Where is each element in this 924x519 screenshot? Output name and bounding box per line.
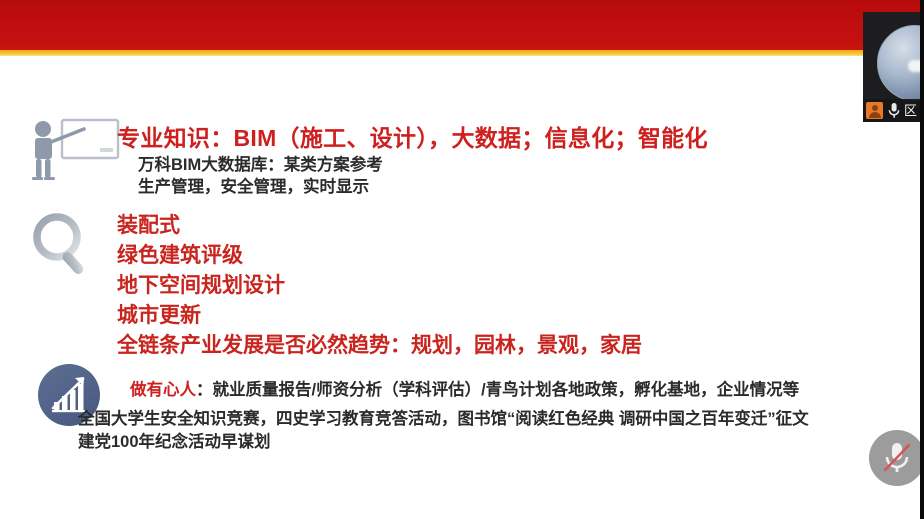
section1-subline-1: 万科BIM大数据库：某类方案参考: [138, 151, 383, 175]
section2-line-4: 城市更新: [117, 299, 201, 329]
slide-content: 专业知识：BIM（施工、设计），大数据；信息化；智能化 万科BIM大数据库：某类…: [0, 56, 924, 519]
section3-line-2: 建党100年纪念活动早谋划: [78, 428, 271, 452]
section2-line-3: 地下空间规划设计: [117, 269, 285, 299]
participant-name: 区: [904, 103, 917, 118]
slide-top-banner: [0, 0, 924, 56]
microphone-icon: [887, 102, 901, 119]
section1-subline-2: 生产管理，安全管理，实时显示: [138, 173, 369, 197]
section2-line-5: 全链条产业发展是否必然趋势：规划，园林，景观，家居: [117, 329, 642, 359]
banner-red-bar: [0, 0, 924, 50]
participant-video-tile[interactable]: 区: [863, 12, 924, 122]
right-black-edge: [920, 0, 924, 519]
screen-share-slide-view: 专业知识：BIM（施工、设计），大数据；信息化；智能化 万科BIM大数据库：某类…: [0, 0, 924, 519]
section1-heading: 专业知识：BIM（施工、设计），大数据；信息化；智能化: [117, 119, 708, 153]
section3-line-1: 全国大学生安全知识竞赛，四史学习教育竞答活动，图书馆“阅读红色经典 调研中国之百…: [78, 405, 809, 429]
video-feed-preview: [877, 25, 924, 101]
section3-lead-line: 做有心人：就业质量报告/师资分析（学科评估）/青鸟计划各地政策，孵化基地，企业情…: [130, 376, 799, 400]
user-avatar-icon: [866, 102, 883, 119]
teacher-presenting-icon: [22, 118, 120, 180]
section3-lead-emphasis: 做有心人: [130, 381, 196, 399]
magnifier-icon: [24, 208, 102, 286]
section2-line-1: 装配式: [117, 209, 180, 239]
section2-line-2: 绿色建筑评级: [117, 239, 243, 269]
microphone-muted-button[interactable]: [869, 430, 924, 486]
section3-lead-rest: ：就业质量报告/师资分析（学科评估）/青鸟计划各地政策，孵化基地，企业情况等: [196, 381, 799, 399]
